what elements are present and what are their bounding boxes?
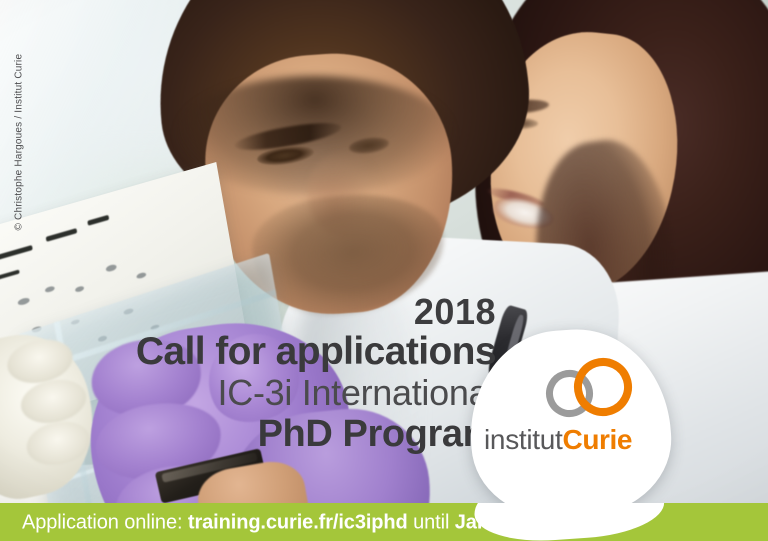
banner-text: Application online: training.curie.fr/ic… (22, 512, 624, 533)
banner-deadline-year: , 2018 (569, 511, 624, 533)
logo-word-curie: Curie (563, 424, 633, 455)
logo-content: institutCurie (470, 330, 670, 516)
logo-word-institut: institut (484, 424, 563, 455)
banner-prefix: Application online: (22, 511, 188, 533)
banner-middle: until (408, 511, 455, 533)
banner-deadline-ordinal: th (558, 511, 569, 524)
banner-deadline-date: January 18 (455, 511, 559, 533)
banner-url[interactable]: training.curie.fr/ic3iphd (188, 511, 408, 533)
poster-canvas: © Christophe Hargoues / Institut Curie 2… (0, 0, 768, 541)
photo-credit: © Christophe Hargoues / Institut Curie (14, 1, 25, 231)
logo-wordmark: institutCurie (484, 426, 656, 454)
application-banner: Application online: training.curie.fr/ic… (0, 503, 768, 541)
institut-curie-logo: institutCurie (470, 330, 670, 516)
